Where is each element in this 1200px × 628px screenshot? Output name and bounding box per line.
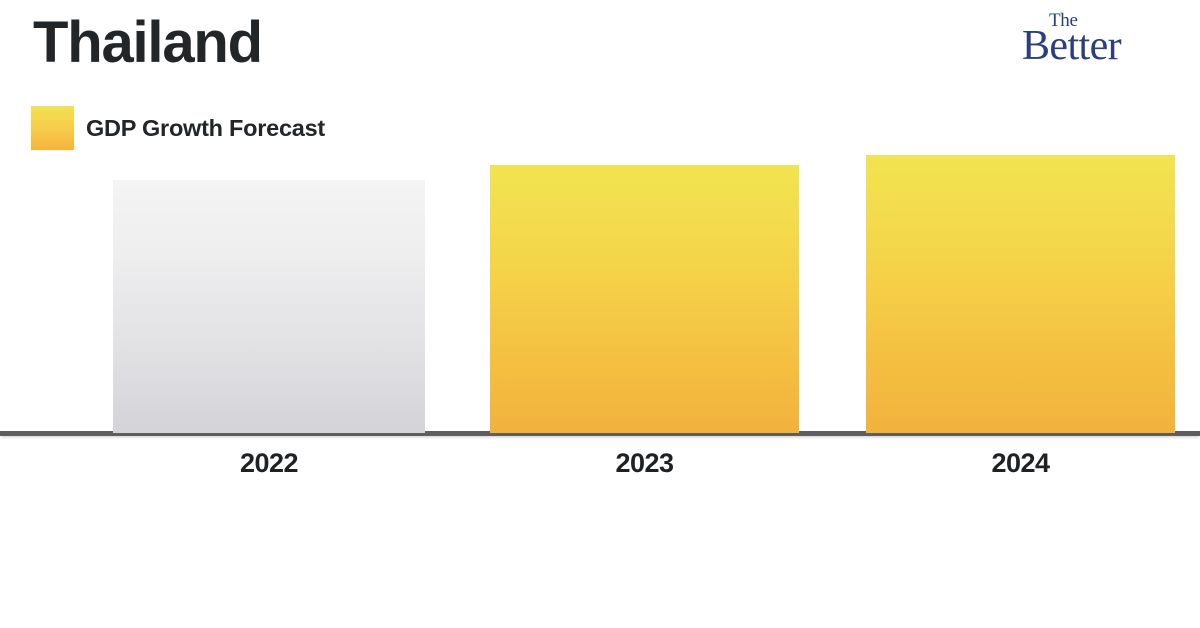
bar-chart-plot: 2.6% 2022 3.3% 2023 3.7% 2024 <box>0 0 1200 628</box>
bar-category-2022: 2022 <box>113 448 425 478</box>
chart-canvas: Thailand GDP Growth Forecast The Better … <box>0 0 1200 628</box>
bar-category-2024: 2024 <box>866 448 1175 478</box>
bar-group-2024: 3.7% 2024 <box>866 0 1175 628</box>
bar-group-2022: 2.6% 2022 <box>113 0 425 628</box>
bar-2024[interactable] <box>866 155 1175 433</box>
bar-2022[interactable] <box>113 180 425 433</box>
bar-group-2023: 3.3% 2023 <box>490 0 799 628</box>
bar-category-2023: 2023 <box>490 448 799 478</box>
bar-2023[interactable] <box>490 165 799 433</box>
